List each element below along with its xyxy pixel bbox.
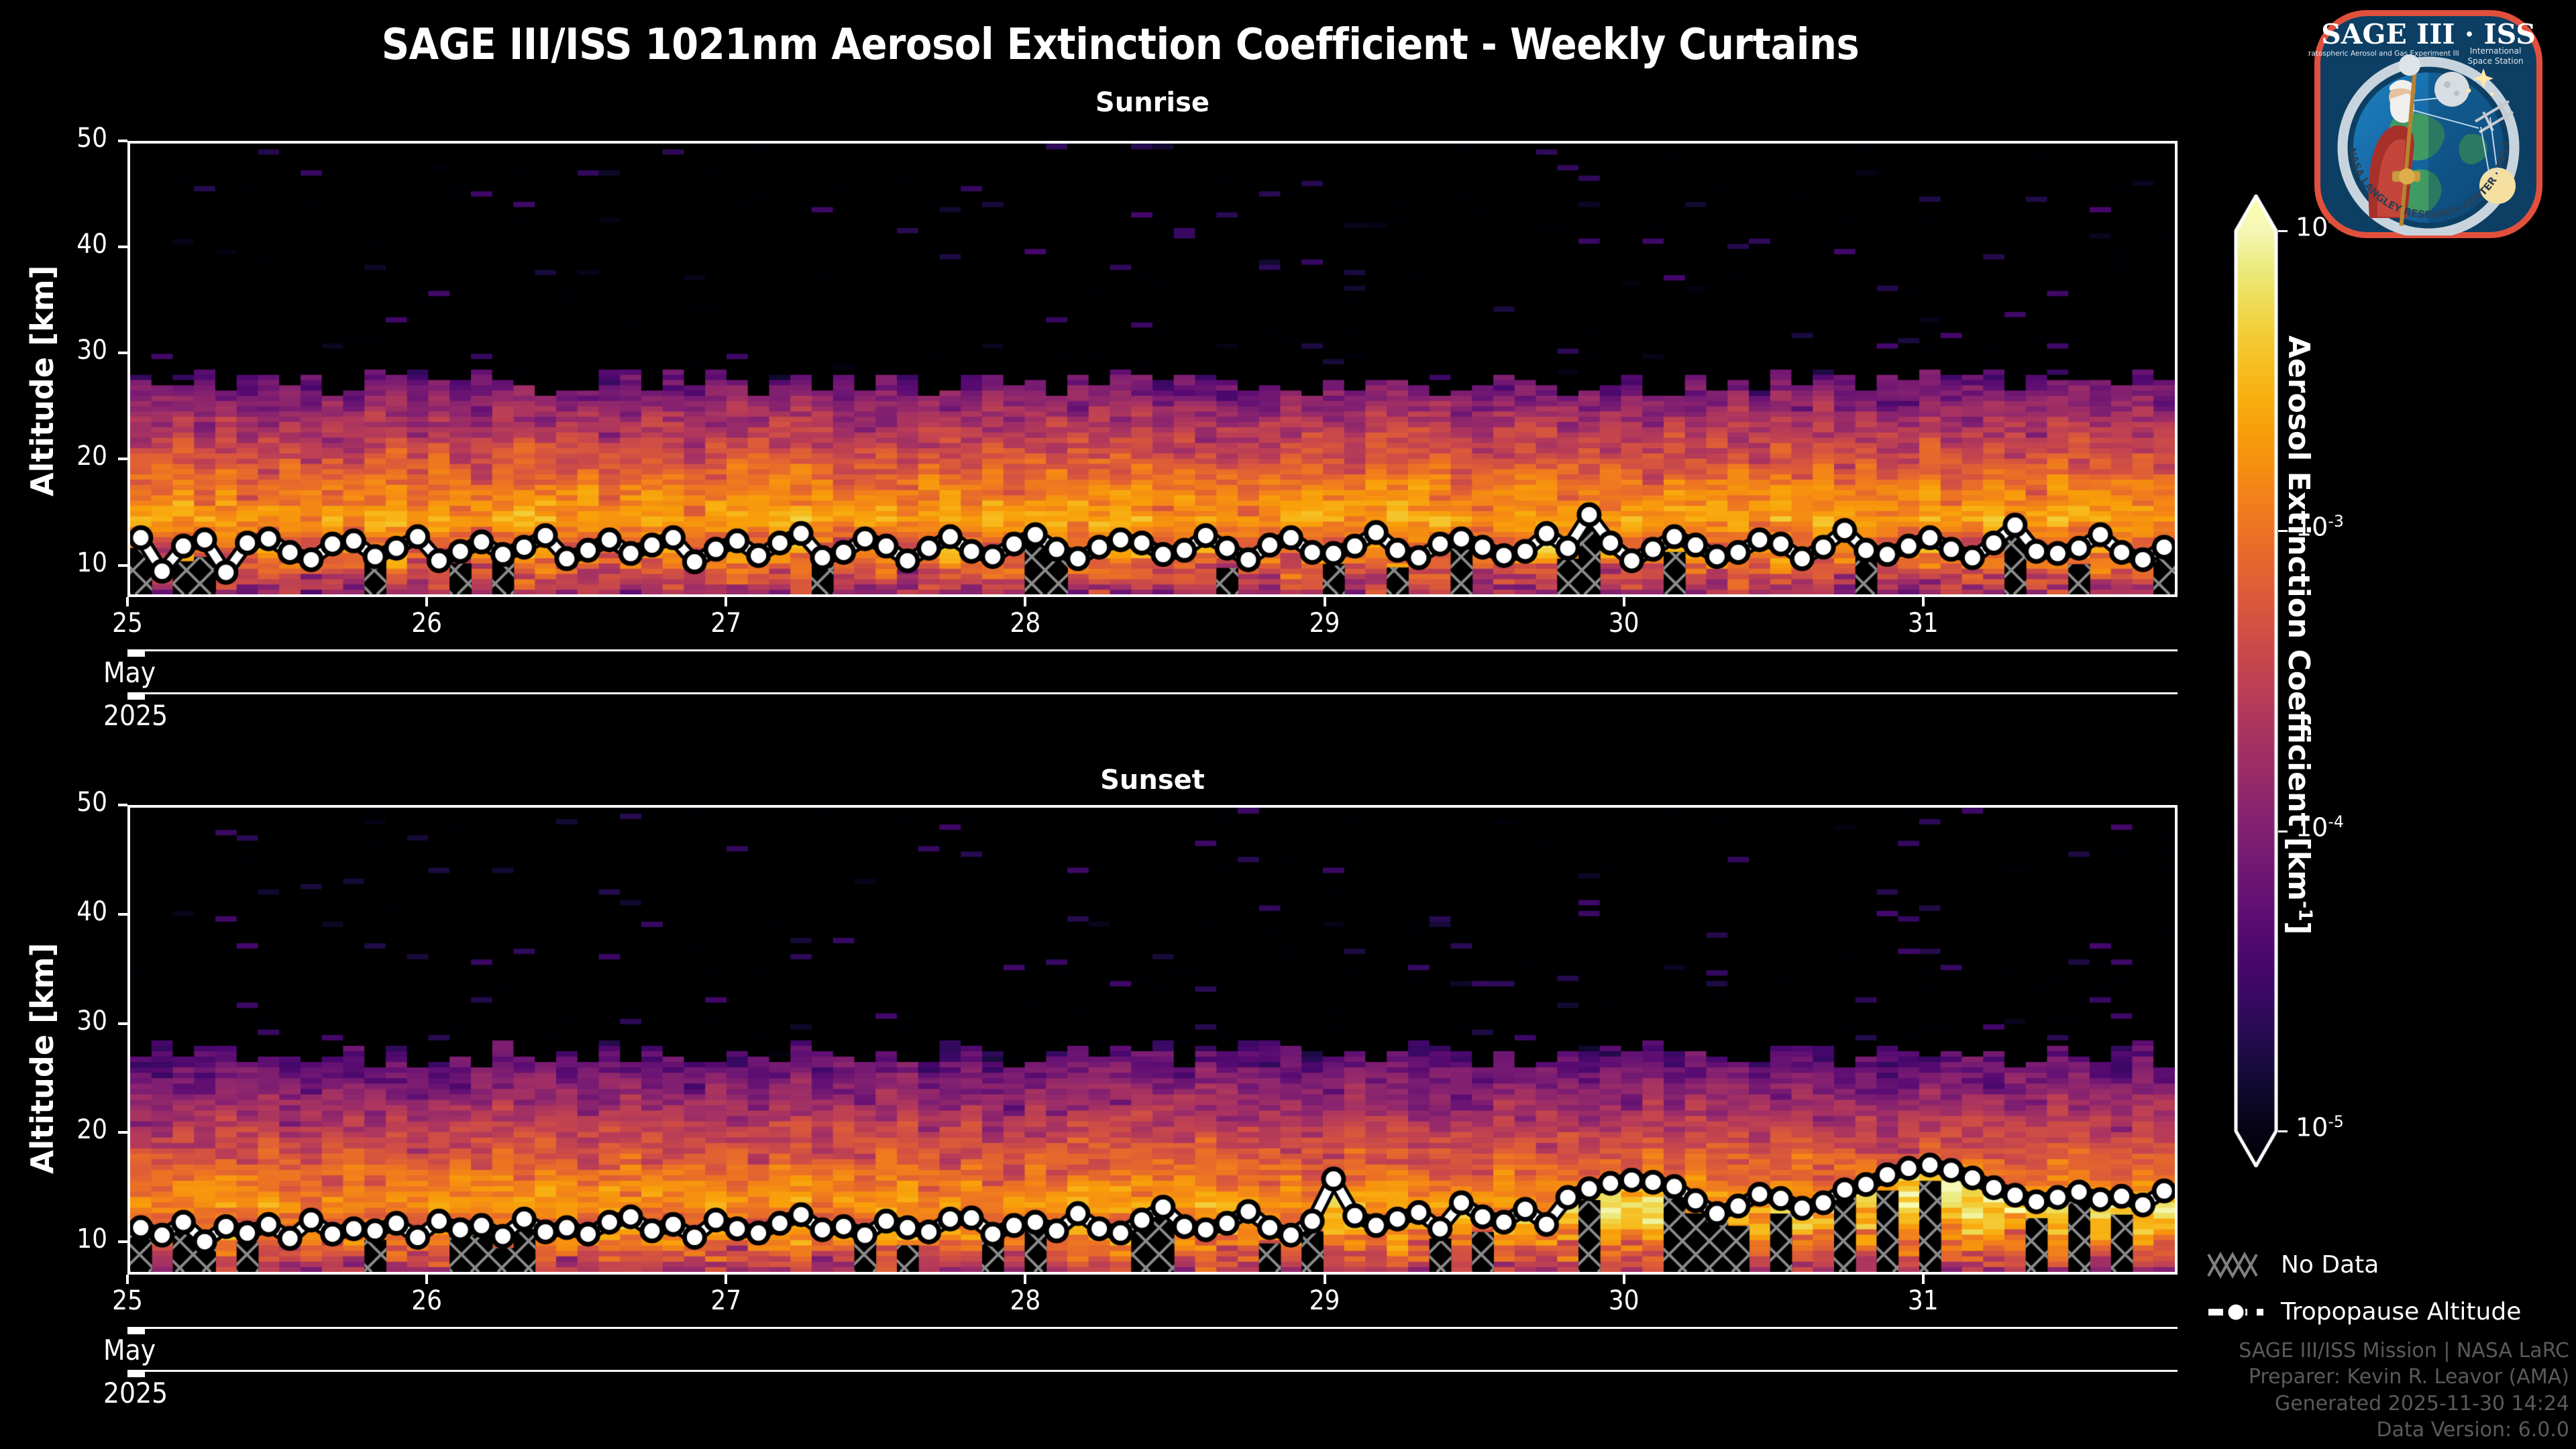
legend-label-no-data: No Data — [2281, 1251, 2379, 1279]
date-axis-rule — [127, 1370, 2178, 1372]
sage-iii-iss-logo[interactable]: SAGE III · ISS Stratospheric Aerosol and… — [2308, 3, 2549, 245]
curtain-heatmap-sunrise — [130, 144, 2175, 594]
x-tick-label: 25 — [87, 608, 168, 639]
y-tick-mark — [118, 140, 127, 142]
footer-line-preparer: Preparer: Kevin R. Leavor (AMA) — [2239, 1364, 2569, 1391]
y-tick-label: 10 — [20, 547, 107, 578]
date-axis-rule — [127, 649, 2178, 651]
y-tick-label: 50 — [20, 123, 107, 154]
colorbar-label-tail: ] — [2282, 921, 2316, 934]
y-tick-mark — [118, 804, 127, 806]
curtain-plot-sunrise[interactable] — [127, 141, 2178, 597]
y-tick-mark — [118, 246, 127, 248]
y-tick-mark — [118, 352, 127, 354]
y-tick-label: 40 — [20, 896, 107, 927]
x-tick-mark — [1324, 1275, 1326, 1284]
x-tick-mark — [425, 597, 428, 606]
y-tick-mark — [118, 1022, 127, 1025]
date-group-label-2025: 2025 — [103, 1377, 168, 1409]
y-tick-label: 50 — [20, 787, 107, 818]
date-group-label-2025: 2025 — [103, 699, 168, 732]
curtain-heatmap-sunset — [130, 808, 2175, 1272]
footer-credits: SAGE III/ISS Mission | NASA LaRC Prepare… — [2239, 1338, 2569, 1444]
y-tick-label: 20 — [20, 1114, 107, 1145]
x-tick-label: 27 — [686, 1285, 766, 1316]
x-tick-mark — [1922, 1275, 1925, 1284]
y-tick-mark — [118, 1240, 127, 1243]
page-title: SAGE III/ISS 1021nm Aerosol Extinction C… — [0, 20, 2241, 70]
date-group-label-may: May — [103, 656, 156, 689]
x-tick-mark — [1623, 597, 1625, 606]
y-tick-label: 30 — [20, 335, 107, 366]
legend-item-tropopause[interactable]: Tropopause Altitude — [2207, 1298, 2521, 1326]
y-tick-label: 20 — [20, 441, 107, 472]
panel-title-sunrise: Sunrise — [127, 87, 2178, 118]
x-tick-label: 31 — [1883, 608, 1964, 639]
x-tick-label: 30 — [1584, 1285, 1664, 1316]
colorbar-label-text: Aerosol Extinction Coefficient [km — [2282, 335, 2316, 901]
footer-line-mission: SAGE III/ISS Mission | NASA LaRC — [2239, 1338, 2569, 1364]
x-tick-label: 29 — [1285, 1285, 1365, 1316]
logo-subtitle-left: Stratospheric Aerosol and Gas Experiment… — [2308, 50, 2459, 58]
footer-line-version: Data Version: 6.0.0 — [2239, 1417, 2569, 1444]
colorbar-tick-label: 10-5 — [2296, 1112, 2344, 1142]
line-circle-icon — [2207, 1299, 2265, 1326]
colorbar[interactable] — [2234, 195, 2278, 1167]
x-tick-mark — [126, 1275, 129, 1284]
y-tick-mark — [118, 1131, 127, 1134]
panel-title-sunset: Sunset — [127, 765, 2178, 796]
y-tick-mark — [118, 913, 127, 916]
x-tick-mark — [1024, 1275, 1026, 1284]
x-tick-mark — [425, 1275, 428, 1284]
logo-title: SAGE III · ISS — [2321, 18, 2536, 50]
y-tick-label: 40 — [20, 229, 107, 260]
x-tick-label: 25 — [87, 1285, 168, 1316]
logo-subtitle-right-1: International — [2470, 46, 2522, 56]
date-axis-rule — [127, 692, 2178, 694]
x-tick-label: 28 — [985, 608, 1065, 639]
x-tick-label: 29 — [1285, 608, 1365, 639]
logo-moon — [2434, 72, 2469, 107]
logo-subtitle-right-2: Space Station — [2467, 56, 2523, 66]
x-tick-mark — [1922, 597, 1925, 606]
x-tick-mark — [1623, 1275, 1625, 1284]
legend-item-no-data[interactable]: No Data — [2207, 1251, 2379, 1279]
colorbar-axis-label: Aerosol Extinction Coefficient [km-1] — [2282, 335, 2316, 934]
hatch-x-icon — [2207, 1252, 2265, 1279]
colorbar-label-exponent: -1 — [2295, 901, 2316, 921]
x-tick-label: 31 — [1883, 1285, 1964, 1316]
x-tick-label: 27 — [686, 608, 766, 639]
colorbar-gradient — [2234, 195, 2278, 1167]
footer-line-generated: Generated 2025-11-30 14:24 — [2239, 1391, 2569, 1417]
x-tick-label: 30 — [1584, 608, 1664, 639]
y-tick-label: 10 — [20, 1224, 107, 1254]
x-tick-mark — [1324, 597, 1326, 606]
x-tick-mark — [724, 597, 727, 606]
colorbar-tick-mark — [2278, 230, 2288, 232]
colorbar-tick-mark — [2278, 1130, 2288, 1132]
x-tick-label: 26 — [386, 608, 467, 639]
date-group-label-may: May — [103, 1334, 156, 1366]
legend-label-tropopause: Tropopause Altitude — [2281, 1298, 2521, 1326]
curtain-plot-sunset[interactable] — [127, 805, 2178, 1275]
y-tick-mark — [118, 458, 127, 460]
y-tick-label: 30 — [20, 1006, 107, 1036]
y-tick-mark — [118, 564, 127, 567]
x-tick-label: 28 — [985, 1285, 1065, 1316]
date-axis-rule — [127, 1327, 2178, 1329]
x-tick-mark — [126, 597, 129, 606]
x-tick-label: 26 — [386, 1285, 467, 1316]
x-tick-mark — [1024, 597, 1026, 606]
x-tick-mark — [724, 1275, 727, 1284]
